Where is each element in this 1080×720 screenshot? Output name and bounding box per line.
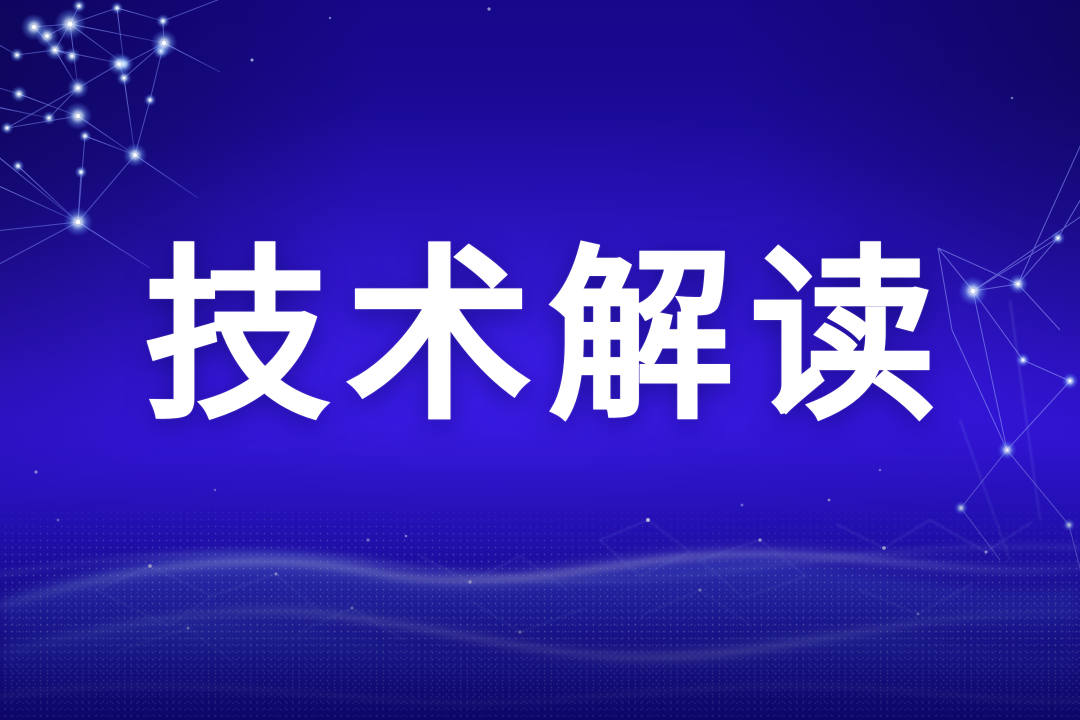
banner-canvas: 技术解读 [0, 0, 1080, 720]
page-title: 技术解读 [0, 244, 1080, 430]
bottom-shade [0, 420, 1080, 720]
title-text: 技术解读 [128, 244, 952, 430]
